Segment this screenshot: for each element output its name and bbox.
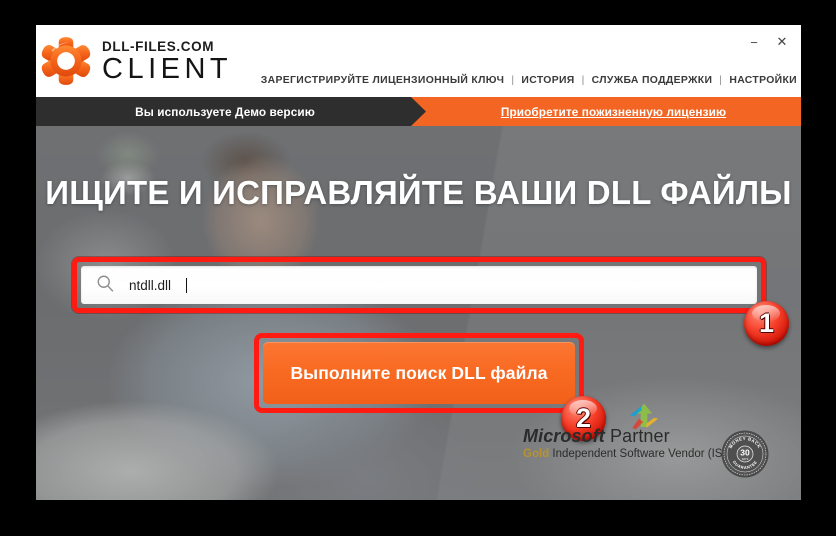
gear-icon <box>40 35 92 87</box>
search-button-highlight-box: Выполните поиск DLL файла <box>254 333 584 413</box>
microsoft-partner-logo: Microsoft Partner Gold Independent Softw… <box>523 426 734 460</box>
close-icon[interactable]: ✕ <box>769 31 795 53</box>
microsoft-word: Microsoft <box>523 426 605 446</box>
nav-separator: | <box>511 75 514 86</box>
main-navigation: ЗАРЕГИСТРИРУЙТЕ ЛИЦЕНЗИОННЫЙ КЛЮЧ | ИСТО… <box>261 75 797 86</box>
application-window: DLL-FILES.COM CLIENT − ✕ ЗАРЕГИСТРИРУЙТЕ… <box>36 25 801 500</box>
isv-label: Independent Software Vendor (ISV) <box>549 448 734 460</box>
window-controls: − ✕ <box>741 31 795 53</box>
text-caret <box>186 278 187 293</box>
nav-separator: | <box>582 75 585 86</box>
buy-license-section[interactable]: Приобретите пожизненную лицензию <box>426 97 801 126</box>
nav-item-settings[interactable]: НАСТРОЙКИ <box>729 75 797 86</box>
demo-banner: Вы используете Демо версию Приобретите п… <box>36 97 801 126</box>
brand-line-1: DLL-FILES.COM <box>102 40 232 54</box>
step-badge-1-number: 1 <box>759 310 774 337</box>
search-button[interactable]: Выполните поиск DLL файла <box>263 342 575 404</box>
svg-text:30: 30 <box>740 448 750 458</box>
brand-line-2: CLIENT <box>102 55 232 84</box>
gold-level-label: Gold <box>523 448 549 460</box>
demo-status-label: Вы используете Демо версию <box>135 105 327 119</box>
title-bar: DLL-FILES.COM CLIENT − ✕ ЗАРЕГИСТРИРУЙТЕ… <box>36 25 801 97</box>
svg-text:DAYS: DAYS <box>742 458 749 461</box>
buy-license-link[interactable]: Приобретите пожизненную лицензию <box>501 105 726 119</box>
step-badge-2-number: 2 <box>576 405 591 432</box>
nav-item-history[interactable]: ИСТОРИЯ <box>521 75 574 86</box>
search-input[interactable]: ntdll.dll <box>81 266 757 304</box>
step-badge-1: 1 <box>744 301 789 346</box>
brand-logo: DLL-FILES.COM CLIENT <box>36 35 232 87</box>
search-input-value: ntdll.dll <box>129 278 171 293</box>
nav-item-register-key[interactable]: ЗАРЕГИСТРИРУЙТЕ ЛИЦЕНЗИОННЫЙ КЛЮЧ <box>261 75 505 86</box>
demo-status-section: Вы используете Демо версию <box>36 97 426 126</box>
hero-section: ИЩИТЕ И ИСПРАВЛЯЙТЕ ВАШИ DLL ФАЙЛЫ ntdll… <box>36 126 801 500</box>
nav-separator: | <box>719 75 722 86</box>
page-title: ИЩИТЕ И ИСПРАВЛЯЙТЕ ВАШИ DLL ФАЙЛЫ <box>36 174 801 212</box>
minimize-icon[interactable]: − <box>741 31 767 53</box>
search-icon <box>95 273 115 298</box>
nav-item-support[interactable]: СЛУЖБА ПОДДЕРЖКИ <box>592 75 713 86</box>
microsoft-partner-subtitle: Gold Independent Software Vendor (ISV) <box>523 448 734 460</box>
search-highlight-box: ntdll.dll <box>72 257 766 313</box>
